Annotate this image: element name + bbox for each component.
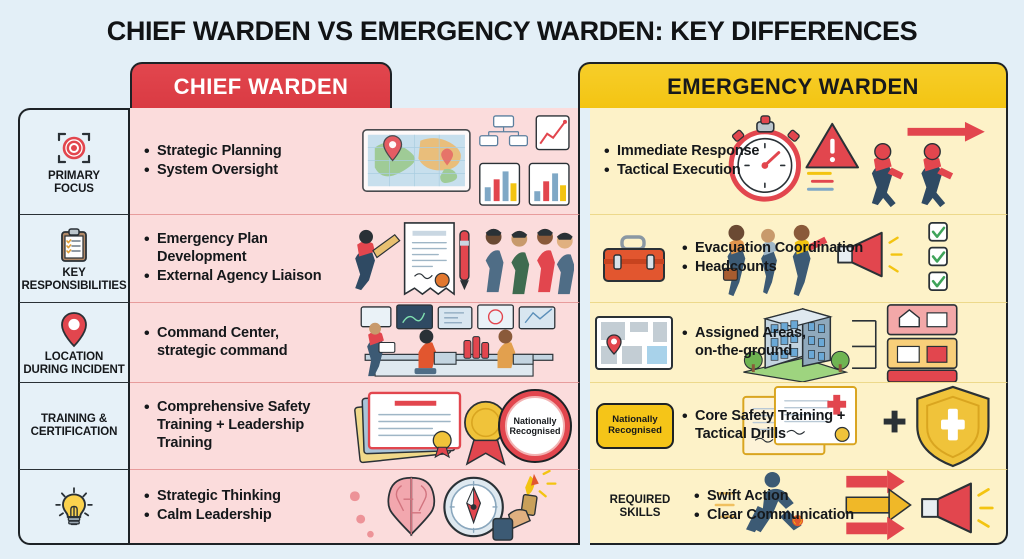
row-label-line2: RESPONSIBILITIES [21,280,126,292]
bullet-list: Strategic Thinking Calm Leadership [144,487,281,525]
bullet-list: Swift Action Clear Communication [694,487,854,525]
column-header-chief-label: CHIEF WARDEN [174,74,349,100]
cell-emergency-required-skills: REQUIRED SKILLS Swift Action Clear Commu… [590,470,1008,545]
badge-inner-label: Nationally Recognised [505,396,565,456]
cell-emergency-primary-focus: Immediate Response Tactical Execution [590,108,1008,215]
badge-line1: Nationally [612,414,657,425]
list-item: Headcounts [682,259,863,277]
bullet-list: Core Safety Training + Tactical Drills [682,407,897,444]
list-item: Strategic Planning [144,143,282,161]
list-item-line2: on-the-ground [695,343,792,359]
list-item: Clear Communication [694,507,854,525]
list-item: External Agency Liaison [144,268,359,286]
badge-nationally-recognised-chief: Nationally Recognised [498,389,572,463]
row-label-key-responsibilities: KEY RESPONSIBILITIES [18,215,130,303]
cell-chief-training: Comprehensive Safety Training + Leadersh… [130,383,580,470]
row-label-line1: TRAINING & [41,413,107,425]
row-label-text: PRIMARY FOCUS [48,170,100,196]
table-row: Strategic Thinking Calm Leadership [18,470,1008,545]
row-label-text: KEY RESPONSIBILITIES [21,267,126,293]
row-label-required-skills: REQUIRED SKILLS [592,494,688,520]
list-item: Calm Leadership [144,507,281,525]
bullet-list: Immediate Response Tactical Execution [604,142,759,180]
bullet-list: Emergency Plan Development External Agen… [144,230,359,286]
list-item: System Oversight [144,162,282,180]
column-gutter [580,215,590,303]
illustration-command-center [344,303,574,382]
cell-emergency-training: Nationally Recognised Core Safety Traini… [590,383,1008,470]
list-item: Assigned Areas, on-the-ground [682,325,806,360]
cell-chief-required-skills: Strategic Thinking Calm Leadership [130,470,580,545]
row-label-line2: DURING INCIDENT [23,364,124,376]
list-item-line2: strategic command [157,343,287,359]
table-row: PRIMARY FOCUS Strategic Planning System … [18,108,1008,215]
column-gutter [580,303,590,383]
list-item: Evacuation Coordination [682,240,863,258]
list-item: Strategic Thinking [144,488,281,506]
bullet-list: Command Center, strategic command [144,324,287,361]
illustration-world-map-charts [344,108,574,214]
illustration-brain-compass-torch [344,470,574,543]
column-header-emergency-label: EMERGENCY WARDEN [667,74,919,100]
column-gutter [580,383,590,470]
column-gutter [580,108,590,215]
list-item: Tactical Execution [604,162,759,180]
row-label-text: LOCATION DURING INCIDENT [23,351,124,377]
row-label-primary-focus: PRIMARY FOCUS [18,108,130,215]
row-label-line2: SKILLS [620,507,661,519]
list-item: Swift Action [694,488,854,506]
table-row: TRAINING & CERTIFICATION Comprehensive S… [18,383,1008,470]
row-label-line1: REQUIRED [610,494,671,506]
row-label-line1: KEY [62,267,85,279]
badge-nationally-recognised-emergency: Nationally Recognised [596,403,674,449]
bullet-list: Strategic Planning System Oversight [144,142,282,180]
row-label-training-certification: TRAINING & CERTIFICATION [18,383,130,470]
floorplan-icon [594,315,674,371]
table-row: KEY RESPONSIBILITIES Emergency Plan Deve… [18,215,1008,303]
row-label-line2: CERTIFICATION [31,426,118,438]
target-icon [54,128,94,168]
illustration-document-signing-and-agencies [344,215,574,302]
list-item: Core Safety Training + Tactical Drills [682,408,897,443]
row-label-line1: LOCATION [45,351,103,363]
badge-line1: Nationally [513,416,556,426]
table-row: LOCATION DURING INCIDENT Command Center,… [18,303,1008,383]
row-label-required-skills-icon-cell [18,470,130,545]
list-item: Comprehensive Safety Training + Leadersh… [144,399,359,452]
list-item-line1: Assigned Areas, [695,325,806,341]
cell-chief-key-responsibilities: Emergency Plan Development External Agen… [130,215,580,303]
page-title: CHIEF WARDEN VS EMERGENCY WARDEN: KEY DI… [0,16,1024,47]
map-pin-icon [54,309,94,349]
list-item: Emergency Plan Development [144,231,359,266]
comparison-table: PRIMARY FOCUS Strategic Planning System … [18,108,1008,545]
list-item-line1: Command Center, [157,325,279,341]
list-item: Immediate Response [604,143,759,161]
toolbox-icon [594,231,674,287]
lightbulb-icon [53,486,95,528]
badge-line2: Recognised [608,425,662,436]
cell-emergency-key-responsibilities: Evacuation Coordination Headcounts [590,215,1008,303]
badge-line2: Recognised [509,426,560,436]
row-label-location-during-incident: LOCATION DURING INCIDENT [18,303,130,383]
row-label-text: TRAINING & CERTIFICATION [31,413,118,439]
bullet-list: Comprehensive Safety Training + Leadersh… [144,398,359,453]
row-label-line1: PRIMARY [48,170,100,182]
cell-chief-location: Command Center, strategic command [130,303,580,383]
column-gutter [580,470,590,545]
column-header-chief-warden: CHIEF WARDEN [130,62,392,110]
bullet-list: Evacuation Coordination Headcounts [682,239,863,277]
bullet-list: Assigned Areas, on-the-ground [682,324,806,361]
cell-chief-primary-focus: Strategic Planning System Oversight [130,108,580,215]
cell-emergency-location: Assigned Areas, on-the-ground [590,303,1008,383]
row-label-line2: FOCUS [54,183,94,195]
clipboard-checklist-icon [54,225,94,265]
infographic-poster: CHIEF WARDEN VS EMERGENCY WARDEN: KEY DI… [0,0,1024,559]
column-header-emergency-warden: EMERGENCY WARDEN [578,62,1008,110]
list-item: Command Center, strategic command [144,325,287,360]
